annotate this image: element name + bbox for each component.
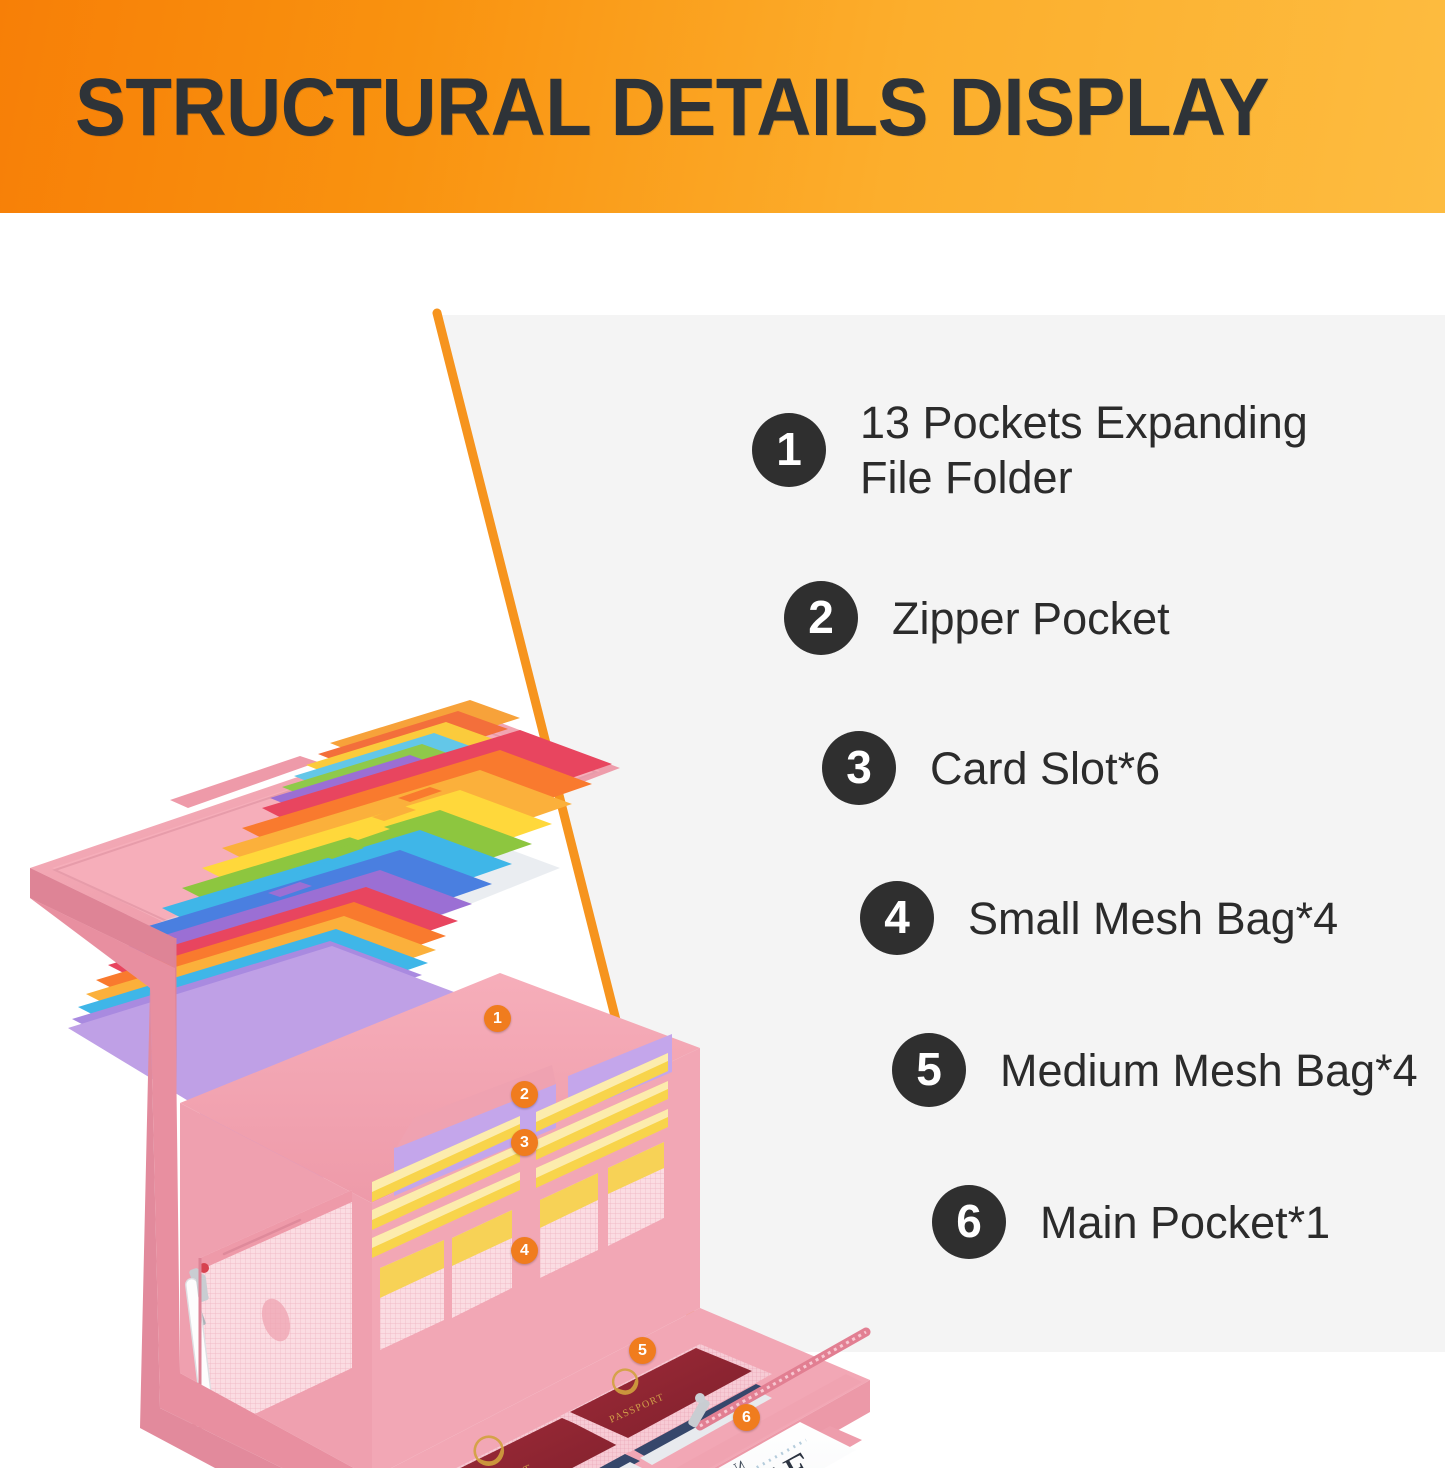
feature-label-6: Main Pocket*1 [1040, 1195, 1330, 1250]
feature-label-2: Zipper Pocket [892, 591, 1170, 646]
feature-item-6: 6 Main Pocket*1 [932, 1185, 1330, 1259]
feature-label-1: 13 Pockets Expanding File Folder [860, 395, 1308, 505]
feature-item-1: 1 13 Pockets Expanding File Folder [752, 395, 1308, 505]
feature-badge-2: 2 [784, 581, 858, 655]
feature-item-3: 3 Card Slot*6 [822, 731, 1160, 805]
feature-item-2: 2 Zipper Pocket [784, 581, 1170, 655]
feature-label-5: Medium Mesh Bag*4 [1000, 1043, 1418, 1098]
feature-label-3: Card Slot*6 [930, 741, 1160, 796]
page-title: STRUCTURAL DETAILS DISPLAY [75, 62, 1269, 154]
feature-badge-4: 4 [860, 881, 934, 955]
callout-6: 6 [733, 1404, 760, 1431]
feature-label-4: Small Mesh Bag*4 [968, 891, 1338, 946]
feature-badge-1: 1 [752, 413, 826, 487]
feature-badge-5: 5 [892, 1033, 966, 1107]
feature-badge-3: 3 [822, 731, 896, 805]
page-header: STRUCTURAL DETAILS DISPLAY [0, 0, 1445, 213]
feature-item-4: 4 Small Mesh Bag*4 [860, 881, 1338, 955]
feature-list: 1 13 Pockets Expanding File Folder 2 Zip… [0, 213, 1445, 1352]
content-panel: PASSPORT PASSPORT [0, 213, 1445, 1352]
feature-badge-6: 6 [932, 1185, 1006, 1259]
feature-item-5: 5 Medium Mesh Bag*4 [892, 1033, 1418, 1107]
